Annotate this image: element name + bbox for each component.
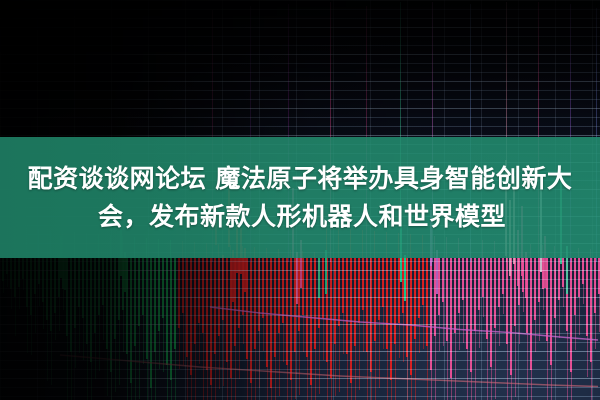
headline-line-1: 配资谈谈网论坛 魔法原子将举办具身智能创新大 — [10, 160, 590, 198]
banner-image: 配资谈谈网论坛 魔法原子将举办具身智能创新大 会，发布新款人形机器人和世界模型 — [0, 0, 600, 400]
headline-line-2: 会，发布新款人形机器人和世界模型 — [10, 198, 590, 236]
headline-band: 配资谈谈网论坛 魔法原子将举办具身智能创新大 会，发布新款人形机器人和世界模型 — [0, 137, 600, 258]
page-title: 配资谈谈网论坛 魔法原子将举办具身智能创新大 会，发布新款人形机器人和世界模型 — [10, 160, 590, 236]
